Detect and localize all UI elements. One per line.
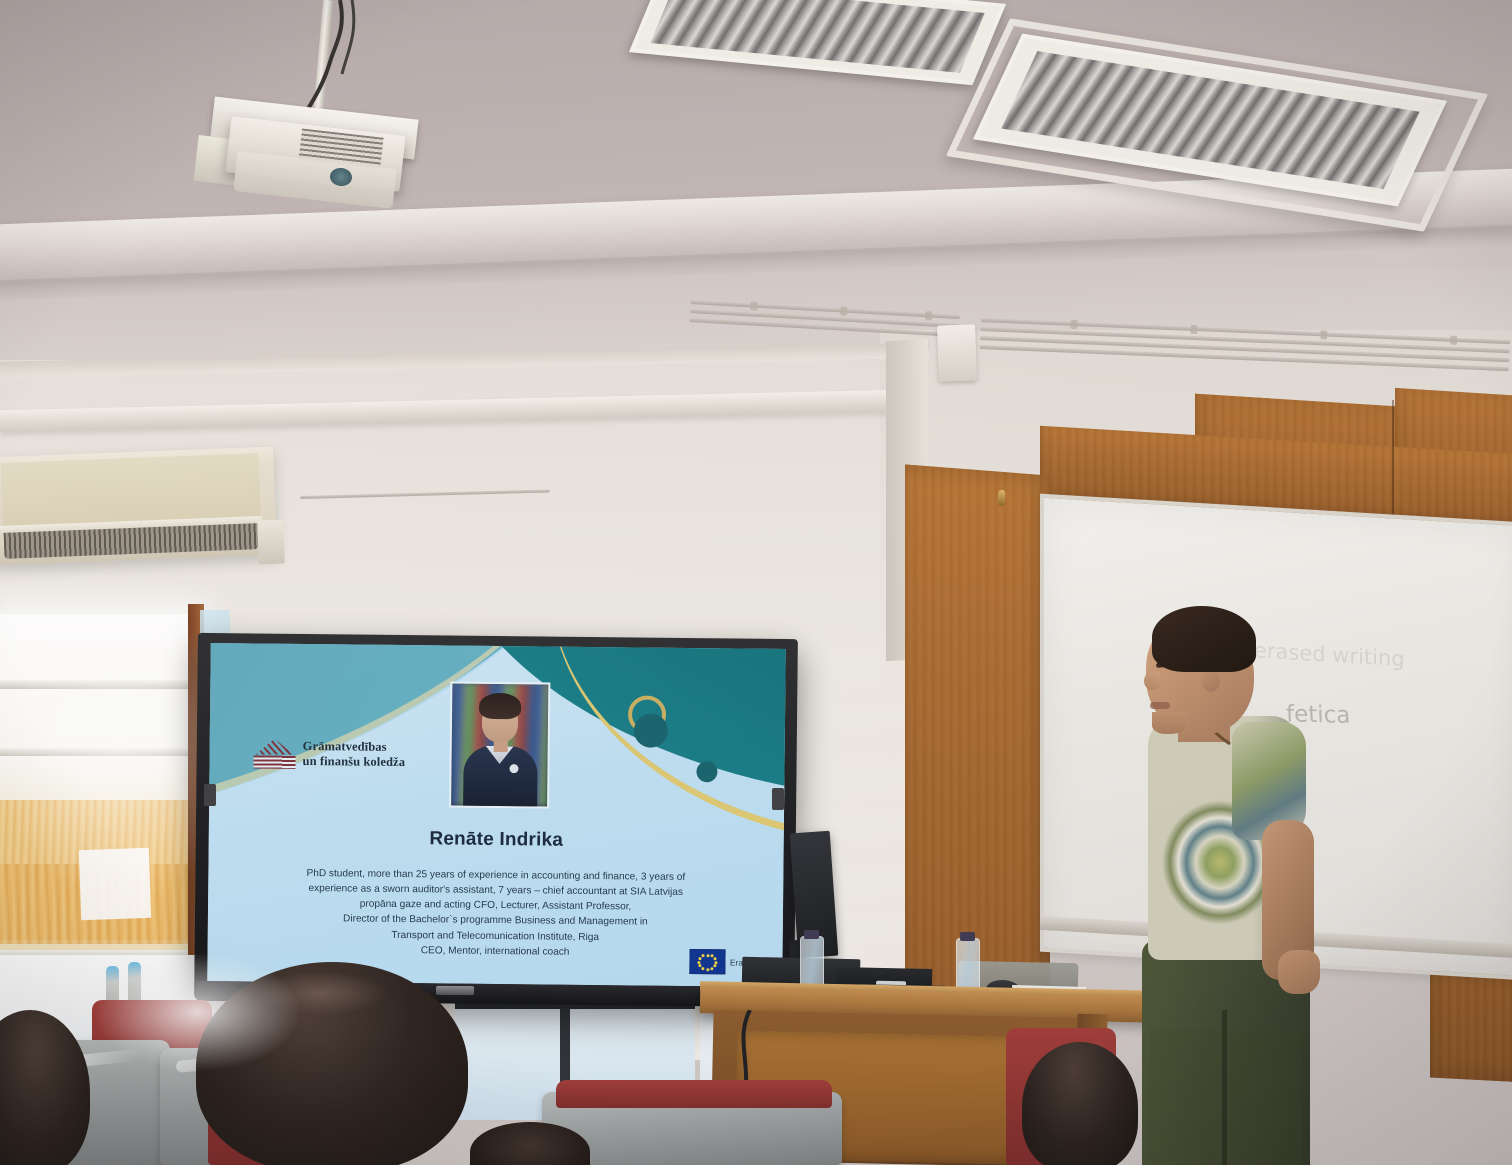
photo-hair (479, 693, 521, 719)
presenter-hair (1152, 606, 1256, 672)
presenter-mouth (1150, 702, 1170, 709)
window-light-glare (92, 952, 302, 1072)
display-brand-tab (436, 986, 474, 995)
logo-line-2: un finanšu koledža (302, 754, 405, 770)
slide-dot-decoration (696, 761, 717, 782)
display-side-button-left[interactable] (204, 784, 216, 806)
presenter-hand (1278, 950, 1320, 994)
air-conditioner-control-box (257, 520, 285, 565)
cabinet-seam (1392, 400, 1394, 530)
house-roof-icon (253, 738, 295, 768)
electrical-junction-box (937, 324, 977, 381)
slide-dot-decoration (634, 713, 668, 747)
logo-line-1: Grāmatvedības (303, 739, 406, 755)
institution-logo: Grāmatvedības un finanšu koledža (253, 738, 405, 770)
presentation-slide: Grāmatvedības un finanšu koledža Renāte … (207, 643, 786, 987)
bottle-cap (804, 930, 819, 939)
eu-flag-icon (689, 949, 725, 974)
presenter-nose (1144, 672, 1160, 690)
seat-backrest-red (556, 1080, 832, 1108)
presenter-chin (1152, 712, 1186, 734)
interactive-display-screen[interactable]: Grāmatvedības un finanšu koledža Renāte … (207, 643, 786, 987)
whiteboard-faint-mark: erased writing (1254, 638, 1405, 671)
speaker-photo (449, 682, 550, 809)
institution-logo-text: Grāmatvedības un finanšu koledža (302, 739, 405, 770)
classroom-scene: erased writing fetica (0, 0, 1512, 1165)
bottle-cap (960, 932, 975, 941)
photo-lapel-badge (509, 764, 518, 773)
audience-head (1022, 1042, 1138, 1165)
presenter-trouser-seam (1222, 1010, 1227, 1165)
speaker-name: Renāte Indrika (209, 826, 784, 854)
speaker-bio: PhD student, more than 25 years of exper… (230, 865, 762, 961)
display-side-button-right[interactable] (772, 788, 784, 810)
cabinet-knob-icon[interactable] (997, 490, 1005, 506)
